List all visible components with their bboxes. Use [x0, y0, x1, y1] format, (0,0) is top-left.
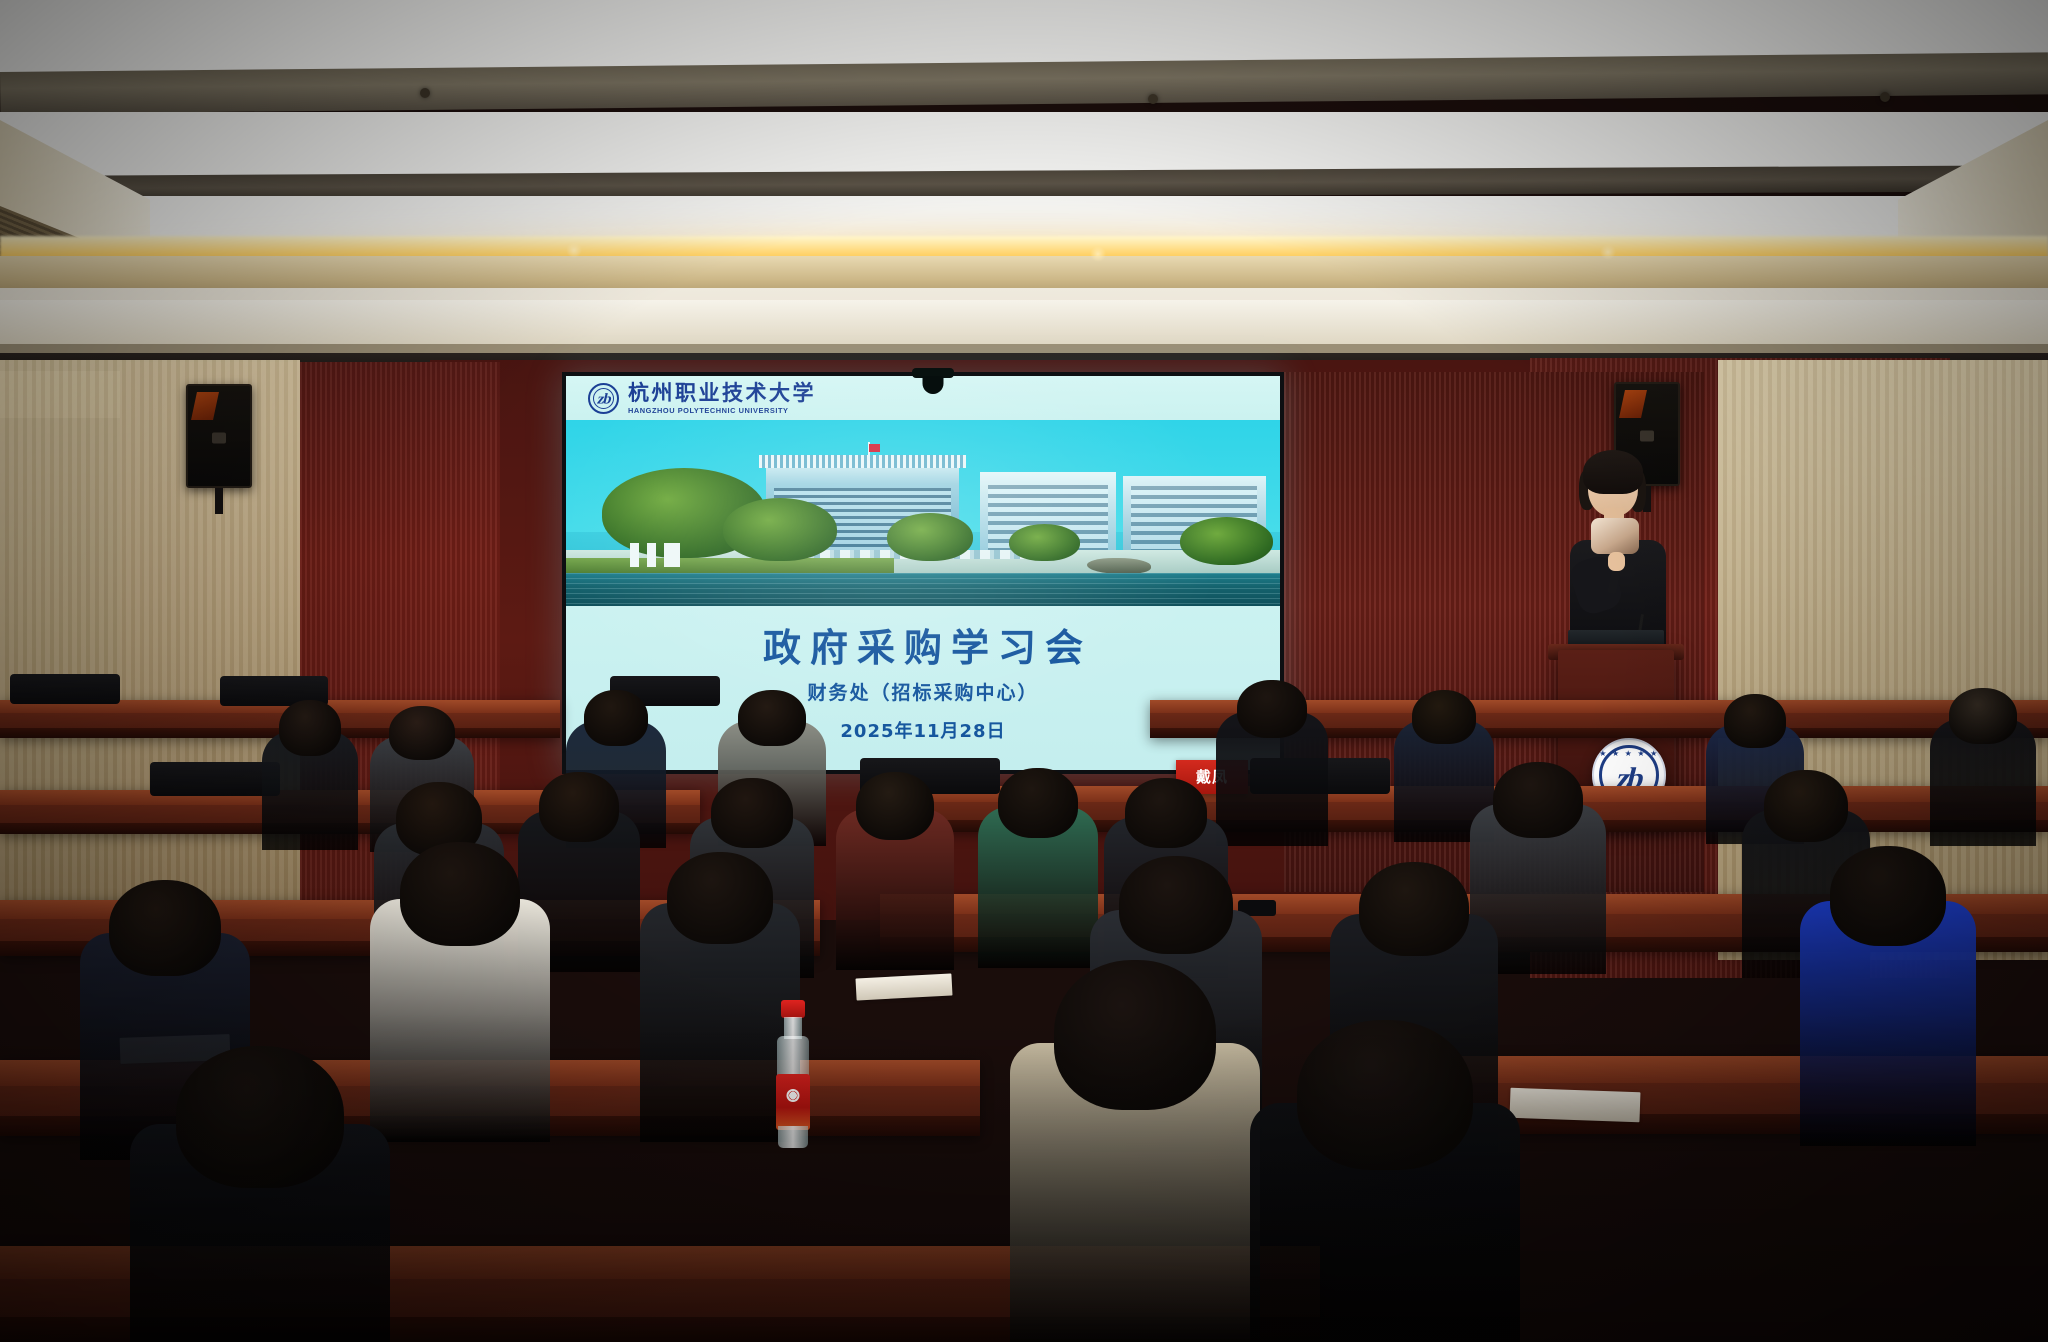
downlight-icon-2 — [1148, 94, 1158, 104]
attendee-head — [279, 700, 341, 756]
campus-sculpture — [630, 543, 680, 567]
speaker-logo-right — [1640, 431, 1654, 442]
attendee-head — [1237, 680, 1307, 738]
presenter — [1560, 456, 1676, 656]
downlight-icon-1 — [420, 88, 430, 98]
attendee-head — [584, 690, 648, 746]
speaker-badge-right — [1619, 390, 1647, 418]
attendee-head — [998, 768, 1078, 838]
attendee-head — [1119, 856, 1233, 954]
attendee-head — [711, 778, 793, 848]
attendee-head — [109, 880, 221, 976]
wall-panel-wood-left — [0, 360, 300, 920]
ceiling — [0, 0, 2048, 300]
downlight-glow-1 — [566, 242, 582, 258]
attendee-head — [539, 772, 619, 842]
paper-handout — [855, 974, 952, 1001]
water-bottle — [772, 1000, 814, 1148]
presenter-scarf — [1591, 518, 1639, 554]
slide-title: 政府采购学习会 — [566, 626, 1280, 672]
flag-icon — [869, 444, 880, 452]
ceiling-camera-icon — [912, 368, 954, 378]
attendee-head — [176, 1046, 344, 1188]
campus-tree-3 — [887, 513, 973, 561]
chair-back — [150, 762, 280, 796]
speaker-badge-left — [191, 392, 219, 420]
attendee-head — [1054, 960, 1216, 1110]
presenter-hair — [1583, 450, 1643, 494]
attendee-head — [856, 772, 934, 840]
university-seal-icon: zb — [588, 383, 619, 414]
attendee-head — [400, 842, 520, 946]
attendee-head — [1724, 694, 1786, 748]
attendee-r1-1 — [262, 700, 358, 850]
downlight-icon-3 — [1880, 92, 1890, 102]
wall-speaker-left — [186, 384, 252, 488]
university-name-block: 杭州职业技术大学 HANGZHOU POLYTECHNIC UNIVERSITY — [628, 382, 816, 416]
attendee-r2-4 — [836, 772, 954, 970]
downlight-glow-3 — [1600, 244, 1616, 260]
attendee-r4-1 — [130, 1046, 390, 1342]
campus-photo — [566, 420, 1280, 606]
attendee-head — [667, 852, 773, 944]
seal-monogram: zb — [595, 393, 612, 408]
attendee-head — [1297, 1020, 1473, 1170]
emblem-stars: ★ ★ ★ ★ ★ — [1599, 750, 1659, 758]
speaker-logo-left — [212, 433, 226, 444]
campus-tree-5 — [1180, 517, 1273, 565]
soffit-edge — [0, 344, 2048, 353]
bottle-label — [776, 1074, 810, 1130]
bottle-base — [778, 1126, 808, 1148]
campus-tree-4 — [1009, 524, 1080, 561]
university-name-en: HANGZHOU POLYTECHNIC UNIVERSITY — [628, 407, 816, 416]
conference-hall-photo: zb 杭州职业技术大学 HANGZHOU POLYTECHNIC UNIVERS… — [0, 0, 2048, 1342]
chair-back — [10, 674, 120, 704]
attendee-r2-5 — [978, 768, 1098, 968]
attendee-head — [1125, 778, 1207, 848]
attendee-head — [1949, 688, 2017, 744]
attendee-r3-6 — [1800, 846, 1976, 1146]
attendee-r3-2 — [370, 842, 550, 1142]
campus-lake — [566, 573, 1280, 606]
attendee-r4-2 — [1010, 960, 1260, 1342]
speaker-mount-left — [215, 488, 223, 514]
attendee-head — [1412, 690, 1476, 744]
attendee-head — [389, 706, 455, 760]
paper-handout — [1510, 1088, 1641, 1123]
campus-tree-2 — [723, 498, 837, 561]
university-logo: zb 杭州职业技术大学 HANGZHOU POLYTECHNIC UNIVERS… — [588, 382, 816, 416]
presenter-hand — [1608, 552, 1625, 571]
attendee-head — [1764, 770, 1848, 842]
attendee-r1-5 — [1216, 680, 1328, 846]
university-name-cn: 杭州职业技术大学 — [628, 382, 816, 404]
attendee-head — [1493, 762, 1583, 838]
campus-building-a-roof — [759, 455, 966, 468]
attendee-head — [738, 690, 806, 746]
attendee-r1-8 — [1930, 688, 2036, 846]
bottle-cap — [781, 1000, 805, 1018]
soffit — [0, 300, 2048, 344]
attendee-head — [1830, 846, 1946, 946]
attendee-head — [1359, 862, 1469, 956]
downlight-glow-2 — [1090, 246, 1106, 262]
attendee-r4-3 — [1250, 1020, 1520, 1342]
